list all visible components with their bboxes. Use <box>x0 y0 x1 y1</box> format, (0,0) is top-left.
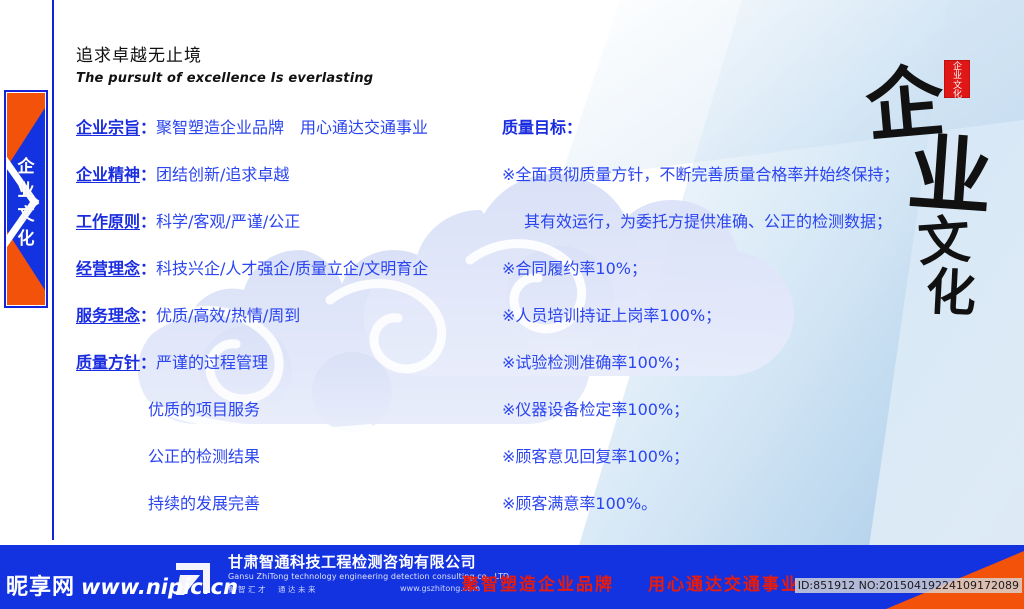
culture-row-colon: ： <box>140 212 156 231</box>
image-id-watermark: ID:851912 NO:20150419224109172089 <box>795 578 1022 593</box>
quality-objective-item: ※合同履约率10%； <box>502 255 902 279</box>
left-vertical-rule <box>52 0 54 540</box>
watermark-url: www.nipic.cn <box>81 575 238 599</box>
quality-policy-line: 优质的项目服务 <box>76 396 486 420</box>
quality-objectives-heading: 质量目标： <box>502 114 902 138</box>
header-slogan: 追求卓越无止境 The pursult of excellence Is eve… <box>76 45 373 86</box>
company-sub-slogan: 聚智汇才 通达未来 <box>228 584 318 595</box>
left-content-column: 企业宗旨：聚智塑造企业品牌 用心通达交通事业 企业精神：团结创新/追求卓越 工作… <box>76 114 486 537</box>
side-tab-char-1: 企 <box>7 155 45 179</box>
culture-row-value: 科学/客观/严谨/公正 <box>156 212 300 231</box>
culture-row-colon: ： <box>140 259 156 278</box>
culture-row-label: 质量方针 <box>76 353 140 372</box>
culture-row-value: 科技兴企/人才强企/质量立企/文明育企 <box>156 259 428 278</box>
watermark-chinese: 昵享网 <box>6 575 75 600</box>
site-watermark: 昵享网www.nipic.cn <box>6 569 238 601</box>
side-tab-char-2: 业 <box>7 179 45 203</box>
bottom-banner: 甘肃智通科技工程检测咨询有限公司 Gansu ZhiTong technolog… <box>0 499 1024 609</box>
quality-objective-item: ※顾客意见回复率100%； <box>502 443 902 467</box>
side-tab-char-4: 化 <box>7 227 45 251</box>
culture-row-label: 经营理念 <box>76 259 140 278</box>
red-slogan-part-1: 聚智塑造企业品牌 <box>462 575 614 595</box>
side-tab-inner: 企 业 文 化 <box>7 93 45 305</box>
culture-row-value: 严谨的过程管理 <box>156 353 268 372</box>
quality-objective-item: ※试验检测准确率100%； <box>502 349 902 373</box>
culture-row-colon: ： <box>140 353 156 372</box>
culture-row-label: 工作原则 <box>76 212 140 231</box>
red-slogan-part-2: 用心通达交通事业 <box>648 575 800 595</box>
culture-row: 企业精神：团结创新/追求卓越 <box>76 161 486 185</box>
culture-row: 质量方针：严谨的过程管理 <box>76 349 486 373</box>
side-tab-corporate-culture[interactable]: 企 业 文 化 <box>4 90 48 308</box>
red-calligraphy-slogan: 聚智塑造企业品牌用心通达交通事业 <box>462 570 800 595</box>
quality-objective-item: ※全面贯彻质量方针，不断完善质量合格率并始终保持； <box>502 161 902 185</box>
quality-objective-item: ※仪器设备检定率100%； <box>502 396 902 420</box>
culture-row-colon: ： <box>140 118 156 137</box>
culture-row: 工作原则：科学/客观/严谨/公正 <box>76 208 486 232</box>
quality-objective-item-continued: 其有效运行，为委托方提供准确、公正的检测数据； <box>502 208 902 232</box>
quality-objective-item: ※人员培训持证上岗率100%； <box>502 302 902 326</box>
culture-row-colon: ： <box>140 306 156 325</box>
side-tab-label: 企 业 文 化 <box>7 155 45 252</box>
right-content-column: 质量目标： ※全面贯彻质量方针，不断完善质量合格率并始终保持； 其有效运行，为委… <box>502 114 902 514</box>
culture-row-label: 服务理念 <box>76 306 140 325</box>
slogan-chinese: 追求卓越无止境 <box>76 45 373 68</box>
culture-row-label: 企业宗旨 <box>76 118 140 137</box>
culture-row-label: 企业精神 <box>76 165 140 184</box>
side-tab-char-3: 文 <box>7 203 45 227</box>
culture-row-value: 优质/高效/热情/周到 <box>156 306 300 325</box>
culture-row-colon: ： <box>140 165 156 184</box>
slogan-english: The pursult of excellence Is everlasting <box>76 71 373 86</box>
culture-row: 企业宗旨：聚智塑造企业品牌 用心通达交通事业 <box>76 114 486 138</box>
culture-row: 经营理念：科技兴企/人才强企/质量立企/文明育企 <box>76 255 486 279</box>
culture-row-value: 团结创新/追求卓越 <box>156 165 289 184</box>
culture-row-value: 聚智塑造企业品牌 用心通达交通事业 <box>156 118 428 137</box>
quality-policy-line: 公正的检测结果 <box>76 443 486 467</box>
culture-row: 服务理念：优质/高效/热情/周到 <box>76 302 486 326</box>
company-name-chinese: 甘肃智通科技工程检测咨询有限公司 <box>228 551 476 572</box>
poster-canvas: 企 业 文 化 追求卓越无止境 The pursult of excellenc… <box>0 0 1024 609</box>
